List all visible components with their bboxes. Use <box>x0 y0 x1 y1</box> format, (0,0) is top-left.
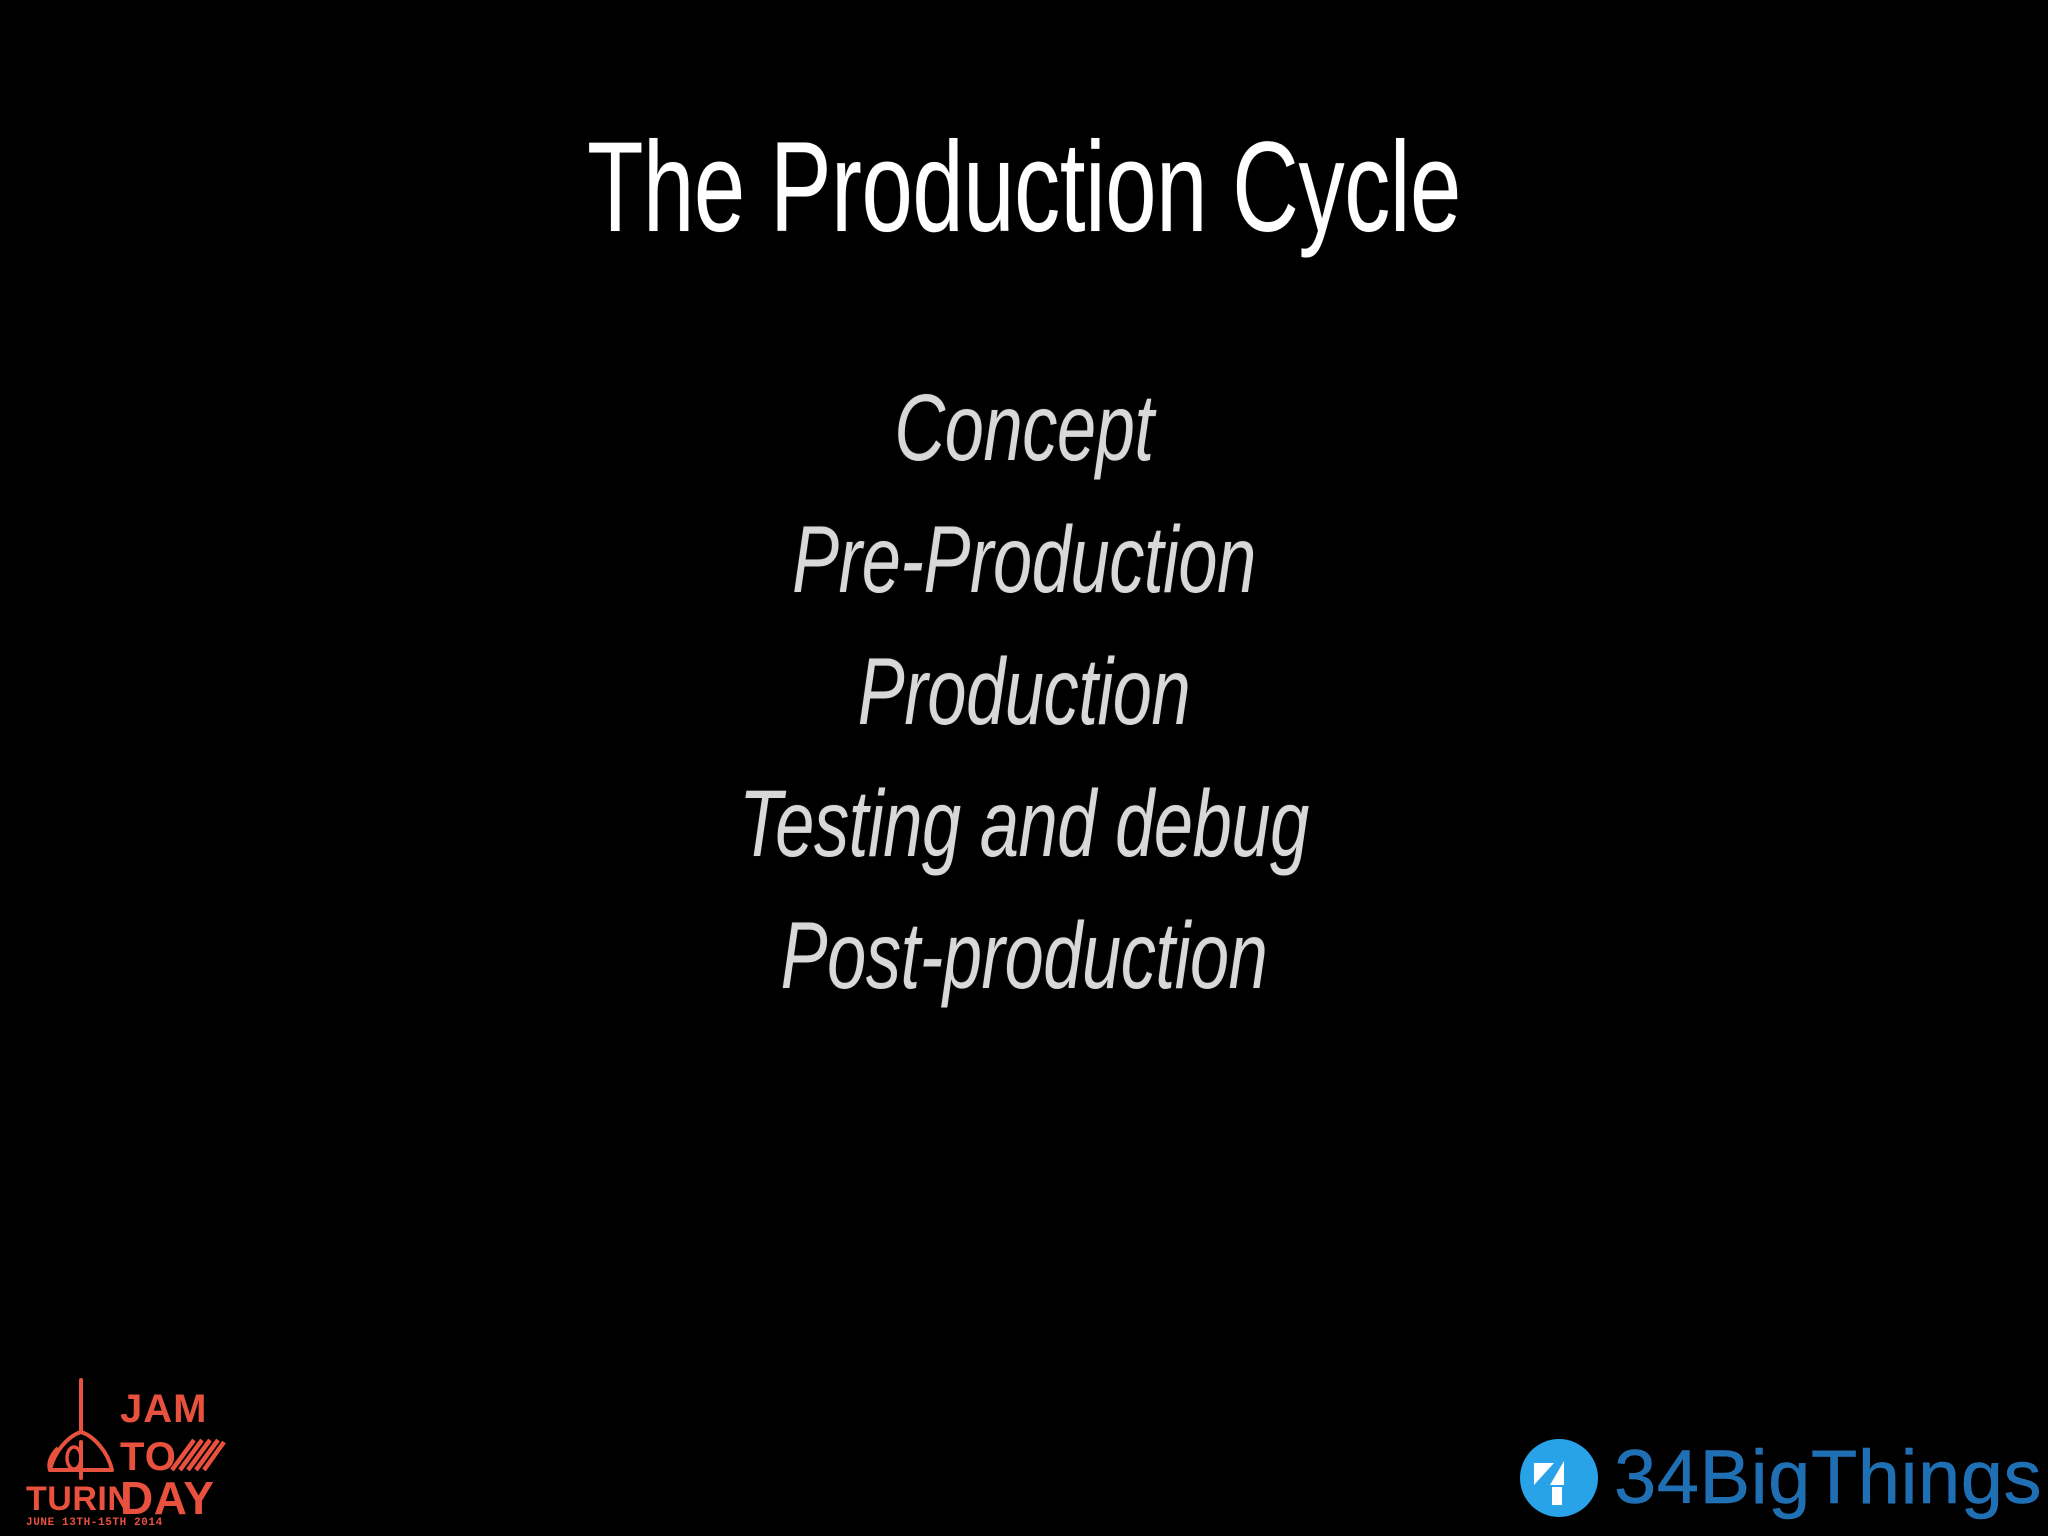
svg-text:TURIN: TURIN <box>26 1480 132 1518</box>
list-item: Testing and debug <box>266 758 1782 890</box>
svg-text:JAM: JAM <box>120 1387 207 1431</box>
event-logo-jam-today-turin: JAM TO TURIN DAY JUNE 13TH-15TH 2014 <box>24 1378 242 1526</box>
34bigthings-mark-icon <box>1520 1439 1598 1517</box>
studio-wordmark: 34BigThings <box>1614 1440 2042 1516</box>
production-cycle-list: Concept Pre-Production Production Testin… <box>0 362 2048 1022</box>
svg-text:JUNE 13TH-15TH 2014: JUNE 13TH-15TH 2014 <box>26 1517 163 1526</box>
list-item: Post-production <box>266 890 1782 1022</box>
studio-logo-34bigthings: 34BigThings <box>1520 1432 2042 1524</box>
presentation-slide: The Production Cycle Concept Pre-Product… <box>0 0 2048 1536</box>
list-item: Pre-Production <box>266 494 1782 626</box>
page-title: The Production Cycle <box>287 118 1762 259</box>
jam-today-turin-logo-icon: JAM TO TURIN DAY JUNE 13TH-15TH 2014 <box>24 1378 242 1526</box>
list-item: Production <box>266 626 1782 758</box>
list-item: Concept <box>266 362 1782 494</box>
